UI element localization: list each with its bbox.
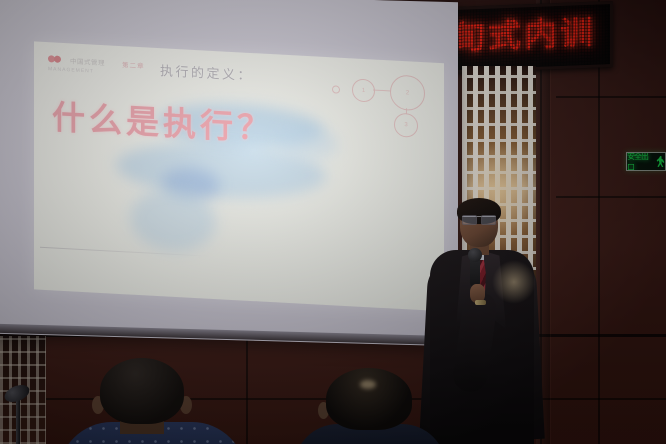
audience-member-left — [62, 358, 238, 444]
speaker-glasses-lens-left — [462, 215, 477, 225]
speaker-wristwatch — [475, 300, 486, 305]
running-person-icon — [656, 156, 665, 167]
slide-logo-subtitle: MANAGEMENT — [48, 66, 94, 74]
seminar-photo-scene: 旬式内训 安全出口 中国式管理 MANAGEMENT 第二章 执行的定义： 什么… — [0, 0, 666, 444]
speaker-person — [418, 196, 546, 444]
emergency-exit-sign: 安全出口 — [626, 152, 666, 171]
audience-member-right — [306, 368, 434, 444]
slide-heading: 执行的定义： — [160, 60, 253, 84]
node-graph-circle: 1 — [352, 78, 375, 102]
slide-node-graph-decoration: 1 2 3 — [330, 65, 438, 141]
wall-seam — [246, 336, 248, 444]
microphone-icon — [468, 248, 482, 262]
node-graph-circle: 2 — [390, 74, 425, 111]
wall-seam — [556, 96, 666, 98]
slide-logo-text: 中国式管理 — [70, 55, 105, 67]
slide-logo: 中国式管理 — [48, 54, 105, 67]
exit-sign-label: 安全出口 — [627, 152, 654, 171]
projection-screen: 中国式管理 MANAGEMENT 第二章 执行的定义： 什么是执行？ 1 2 3 — [0, 0, 458, 346]
mic-stand-pole — [16, 396, 20, 444]
node-graph-edge — [406, 108, 407, 114]
slide-chapter-label: 第二章 — [122, 59, 145, 70]
led-sign-text: 旬式内训 — [455, 10, 613, 60]
speaker-glasses-lens-right — [481, 215, 496, 225]
audience-right-hair-highlight — [360, 380, 376, 389]
led-banner-sign: 旬式内训 — [455, 1, 613, 73]
node-graph-edge — [373, 89, 391, 91]
presentation-slide: 中国式管理 MANAGEMENT 第二章 执行的定义： 什么是执行？ 1 2 3 — [34, 41, 444, 311]
wall-seam — [556, 196, 666, 198]
slide-title: 什么是执行？ — [52, 90, 274, 150]
node-graph-dot — [332, 85, 340, 93]
audience-left-hair — [100, 358, 184, 424]
audience-right-hair — [326, 368, 412, 430]
brand-mark-icon — [48, 54, 65, 65]
node-graph-circle: 3 — [394, 113, 418, 138]
